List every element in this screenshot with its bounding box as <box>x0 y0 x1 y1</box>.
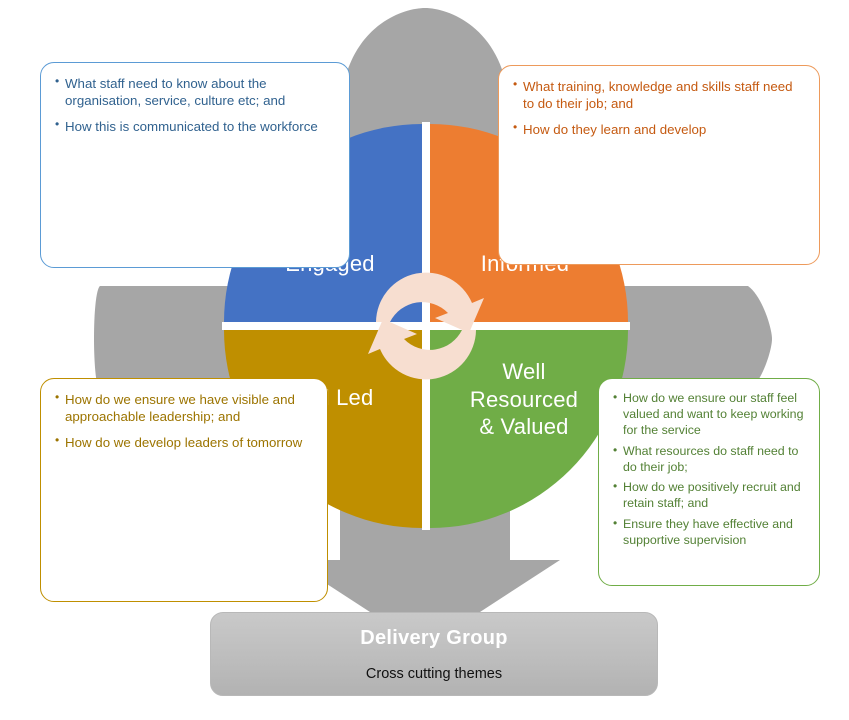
delivery-group-subtitle: Cross cutting themes <box>366 666 502 682</box>
callout-well-informed: What training, knowledge and skills staf… <box>498 65 820 265</box>
list-item: How this is communicated to the workforc… <box>55 118 335 135</box>
list-item: How do we positively recruit and retain … <box>613 480 805 512</box>
delivery-group-banner: Delivery Group Cross cutting themes <box>210 612 658 696</box>
list-item: How do we develop leaders of tomorrow <box>55 434 313 451</box>
callout-list-informed: What training, knowledge and skills staf… <box>513 78 805 138</box>
list-item: How do we ensure we have visible and app… <box>55 391 313 425</box>
callout-list-resourced: How do we ensure our staff feel valued a… <box>613 391 805 549</box>
list-item: What staff need to know about the organi… <box>55 75 335 109</box>
callout-well-engaged: What staff need to know about the organi… <box>40 62 350 268</box>
list-item: What training, knowledge and skills staf… <box>513 78 805 112</box>
list-item: What resources do staff need to do their… <box>613 444 805 476</box>
diagram-canvas: Well Engaged Well Informed Well Led Well… <box>0 0 849 720</box>
callout-list-led: How do we ensure we have visible and app… <box>55 391 313 451</box>
list-item: How do we ensure our staff feel valued a… <box>613 391 805 439</box>
list-item: Ensure they have effective and supportiv… <box>613 517 805 549</box>
callout-well-led: How do we ensure we have visible and app… <box>40 378 328 602</box>
callout-well-resourced: How do we ensure our staff feel valued a… <box>598 378 820 586</box>
callout-list-engaged: What staff need to know about the organi… <box>55 75 335 135</box>
delivery-group-title: Delivery Group <box>360 627 508 650</box>
list-item: How do they learn and develop <box>513 121 805 138</box>
